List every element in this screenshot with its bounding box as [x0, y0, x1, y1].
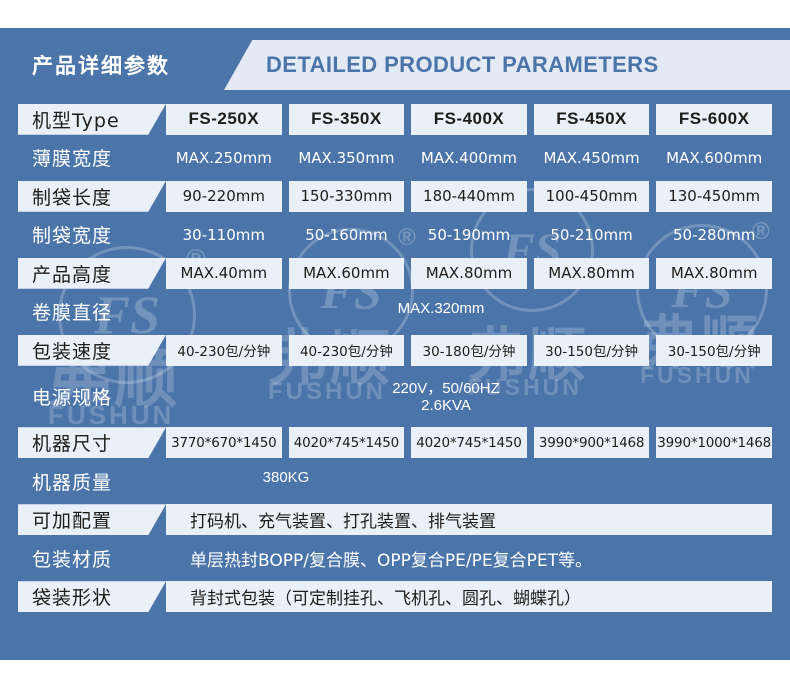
table-row: 机器尺寸3770*670*14504020*745*14504020*745*1… — [0, 424, 790, 463]
table-cell: MAX.40mm — [166, 258, 282, 289]
power-spec-line2: 2.6KVA — [351, 397, 541, 414]
table-cell: 50-210mm — [534, 219, 650, 250]
parameters-table: 机型TypeFS-250XFS-350XFS-400XFS-450XFS-600… — [0, 100, 790, 616]
table-cell: 30-150包/分钟 — [534, 335, 650, 366]
table-cell: MAX.60mm — [289, 258, 405, 289]
table-cell: MAX.450mm — [534, 142, 650, 173]
row-label-text: 卷膜直径 — [18, 298, 112, 325]
table-cell: FS-250X — [166, 104, 282, 135]
row-span-cell: 背封式包装（可定制挂孔、飞机孔、圆孔、蝴蝶孔） — [166, 581, 772, 612]
row-label-cell: 制袋长度 — [18, 181, 166, 212]
row-span-text: 单层热封BOPP/复合膜、OPP复合PE/PE复合PET等。 — [166, 546, 592, 571]
table-cell: FS-350X — [289, 104, 405, 135]
table-cell: 4020*745*1450 — [289, 427, 405, 458]
row-values: FS-250XFS-350XFS-400XFS-450XFS-600X — [166, 104, 790, 135]
row-label-cell: 包装材质 — [18, 543, 166, 574]
page-title: DETAILED PRODUCT PARAMETERS — [266, 52, 659, 78]
row-label-text: 薄膜宽度 — [18, 144, 112, 171]
table-row: 薄膜宽度MAX.250mmMAX.350mmMAX.400mmMAX.450mm… — [0, 139, 790, 178]
table-cell: 30-150包/分钟 — [656, 335, 772, 366]
table-row: 包装速度40-230包/分钟40-230包/分钟30-180包/分钟30-150… — [0, 331, 790, 370]
power-spec-line1: 220V，50/60HZ — [351, 377, 541, 398]
row-value-text: 380KG — [211, 469, 361, 486]
table-cell: MAX.250mm — [166, 142, 282, 173]
table-row: 包装材质单层热封BOPP/复合膜、OPP复合PE/PE复合PET等。 — [0, 539, 790, 578]
table-cell: 50-160mm — [289, 219, 405, 250]
row-label-text: 机器尺寸 — [18, 429, 112, 456]
row-label-cell: 卷膜直径 — [18, 296, 166, 327]
table-cell: 100-450mm — [534, 181, 650, 212]
table-cell: 30-180包/分钟 — [411, 335, 527, 366]
row-label-cell: 机型Type — [18, 104, 166, 135]
table-cell: 180-440mm — [411, 181, 527, 212]
table-cell: FS-400X — [411, 104, 527, 135]
table-cell: 40-230包/分钟 — [289, 335, 405, 366]
row-label-cell: 机器质量 — [18, 466, 166, 497]
product-parameters-page: FS ® FS ® FS ® FS ® 弗顺 FUSHUN 弗顺 FUSHUN … — [0, 0, 790, 700]
row-free-text: 380KG — [166, 462, 772, 501]
row-label-cell: 电源规格 — [18, 381, 166, 412]
table-row: 袋装形状背封式包装（可定制挂孔、飞机孔、圆孔、蝴蝶孔） — [0, 578, 790, 617]
table-cell: 30-110mm — [166, 219, 282, 250]
table-cell: FS-450X — [534, 104, 650, 135]
row-values: MAX.40mmMAX.60mmMAX.80mmMAX.80mmMAX.80mm — [166, 258, 790, 289]
table-cell: FS-600X — [656, 104, 772, 135]
row-label-text: 可加配置 — [18, 506, 112, 533]
table-row: 可加配置打码机、充气装置、打孔装置、排气装置 — [0, 501, 790, 540]
row-span-text: 打码机、充气装置、打孔装置、排气装置 — [166, 507, 496, 532]
row-label-text: 电源规格 — [18, 383, 112, 410]
table-cell: 50-190mm — [411, 219, 527, 250]
table-cell: 4020*745*1450 — [411, 427, 527, 458]
table-cell: 150-330mm — [289, 181, 405, 212]
row-label-text: 产品高度 — [18, 260, 112, 287]
header-tab-cn: 产品详细参数 — [14, 40, 202, 90]
header-title-bar: DETAILED PRODUCT PARAMETERS — [224, 40, 790, 90]
table-row: 电源规格220V，50/60HZ2.6KVA — [0, 370, 790, 424]
table-row: 卷膜直径MAX.320mm — [0, 293, 790, 332]
row-label-text: 机器质量 — [18, 468, 112, 495]
row-label-text: 包装材质 — [18, 545, 112, 572]
row-span-cell: 打码机、充气装置、打孔装置、排气装置 — [166, 504, 772, 535]
table-cell: 3990*1000*1468 — [656, 427, 772, 458]
table-cell: 3990*900*1468 — [534, 427, 650, 458]
table-row: 机器质量380KG — [0, 462, 790, 501]
row-label-cell: 薄膜宽度 — [18, 142, 166, 173]
table-cell: MAX.400mm — [411, 142, 527, 173]
row-label-text: 机型Type — [18, 106, 120, 133]
row-label-cell: 可加配置 — [18, 504, 166, 535]
table-row: 制袋宽度30-110mm50-160mm50-190mm50-210mm50-2… — [0, 216, 790, 255]
row-label-text: 制袋宽度 — [18, 221, 112, 248]
row-free-text: 220V，50/60HZ2.6KVA — [166, 370, 772, 424]
table-cell: MAX.80mm — [534, 258, 650, 289]
table-cell: MAX.600mm — [656, 142, 772, 173]
row-label-text: 袋装形状 — [18, 583, 112, 610]
row-label-cell: 袋装形状 — [18, 581, 166, 612]
row-values: 30-110mm50-160mm50-190mm50-210mm50-280mm — [166, 219, 790, 250]
row-values: MAX.250mmMAX.350mmMAX.400mmMAX.450mmMAX.… — [166, 142, 790, 173]
row-values: 90-220mm150-330mm180-440mm100-450mm130-4… — [166, 181, 790, 212]
row-label-cell: 机器尺寸 — [18, 427, 166, 458]
table-row: 产品高度MAX.40mmMAX.60mmMAX.80mmMAX.80mmMAX.… — [0, 254, 790, 293]
row-label-cell: 制袋宽度 — [18, 219, 166, 250]
table-cell: MAX.80mm — [656, 258, 772, 289]
row-value-text: MAX.320mm — [366, 300, 516, 317]
row-label-text: 包装速度 — [18, 337, 112, 364]
row-values: 3770*670*14504020*745*14504020*745*14503… — [166, 427, 790, 458]
header-slash-decor — [197, 40, 223, 90]
table-cell: MAX.80mm — [411, 258, 527, 289]
header-tab-label: 产品详细参数 — [32, 50, 170, 80]
row-label-text: 制袋长度 — [18, 183, 112, 210]
table-row: 制袋长度90-220mm150-330mm180-440mm100-450mm1… — [0, 177, 790, 216]
table-row: 机型TypeFS-250XFS-350XFS-400XFS-450XFS-600… — [0, 100, 790, 139]
parameters-panel: FS ® FS ® FS ® FS ® 弗顺 FUSHUN 弗顺 FUSHUN … — [0, 28, 790, 660]
table-cell: MAX.350mm — [289, 142, 405, 173]
row-label-cell: 包装速度 — [18, 335, 166, 366]
row-label-cell: 产品高度 — [18, 258, 166, 289]
table-cell: 3770*670*1450 — [166, 427, 282, 458]
table-cell: 90-220mm — [166, 181, 282, 212]
section-header: 产品详细参数 DETAILED PRODUCT PARAMETERS — [0, 28, 790, 100]
row-values: 40-230包/分钟40-230包/分钟30-180包/分钟30-150包/分钟… — [166, 335, 790, 366]
table-cell: 130-450mm — [656, 181, 772, 212]
row-span-text: 背封式包装（可定制挂孔、飞机孔、圆孔、蝴蝶孔） — [166, 584, 581, 609]
table-cell: 50-280mm — [656, 219, 772, 250]
row-free-text: MAX.320mm — [166, 293, 772, 332]
row-span-cell: 单层热封BOPP/复合膜、OPP复合PE/PE复合PET等。 — [166, 543, 772, 574]
table-cell: 40-230包/分钟 — [166, 335, 282, 366]
